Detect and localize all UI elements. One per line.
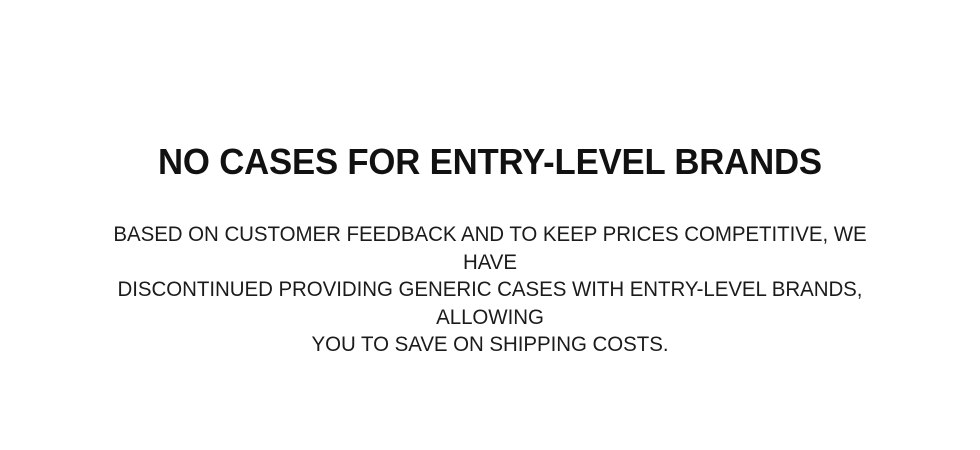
notice-description-line-2: DISCONTINUED PROVIDING GENERIC CASES WIT… — [100, 276, 880, 331]
notice-description-line-3: YOU TO SAVE ON SHIPPING COSTS. — [100, 331, 880, 359]
notice-description: BASED ON CUSTOMER FEEDBACK AND TO KEEP P… — [100, 221, 880, 359]
notice-section: NO CASES FOR ENTRY-LEVEL BRANDS BASED ON… — [0, 0, 980, 450]
page-title: NO CASES FOR ENTRY-LEVEL BRANDS — [158, 140, 822, 184]
notice-description-line-1: BASED ON CUSTOMER FEEDBACK AND TO KEEP P… — [100, 221, 880, 276]
